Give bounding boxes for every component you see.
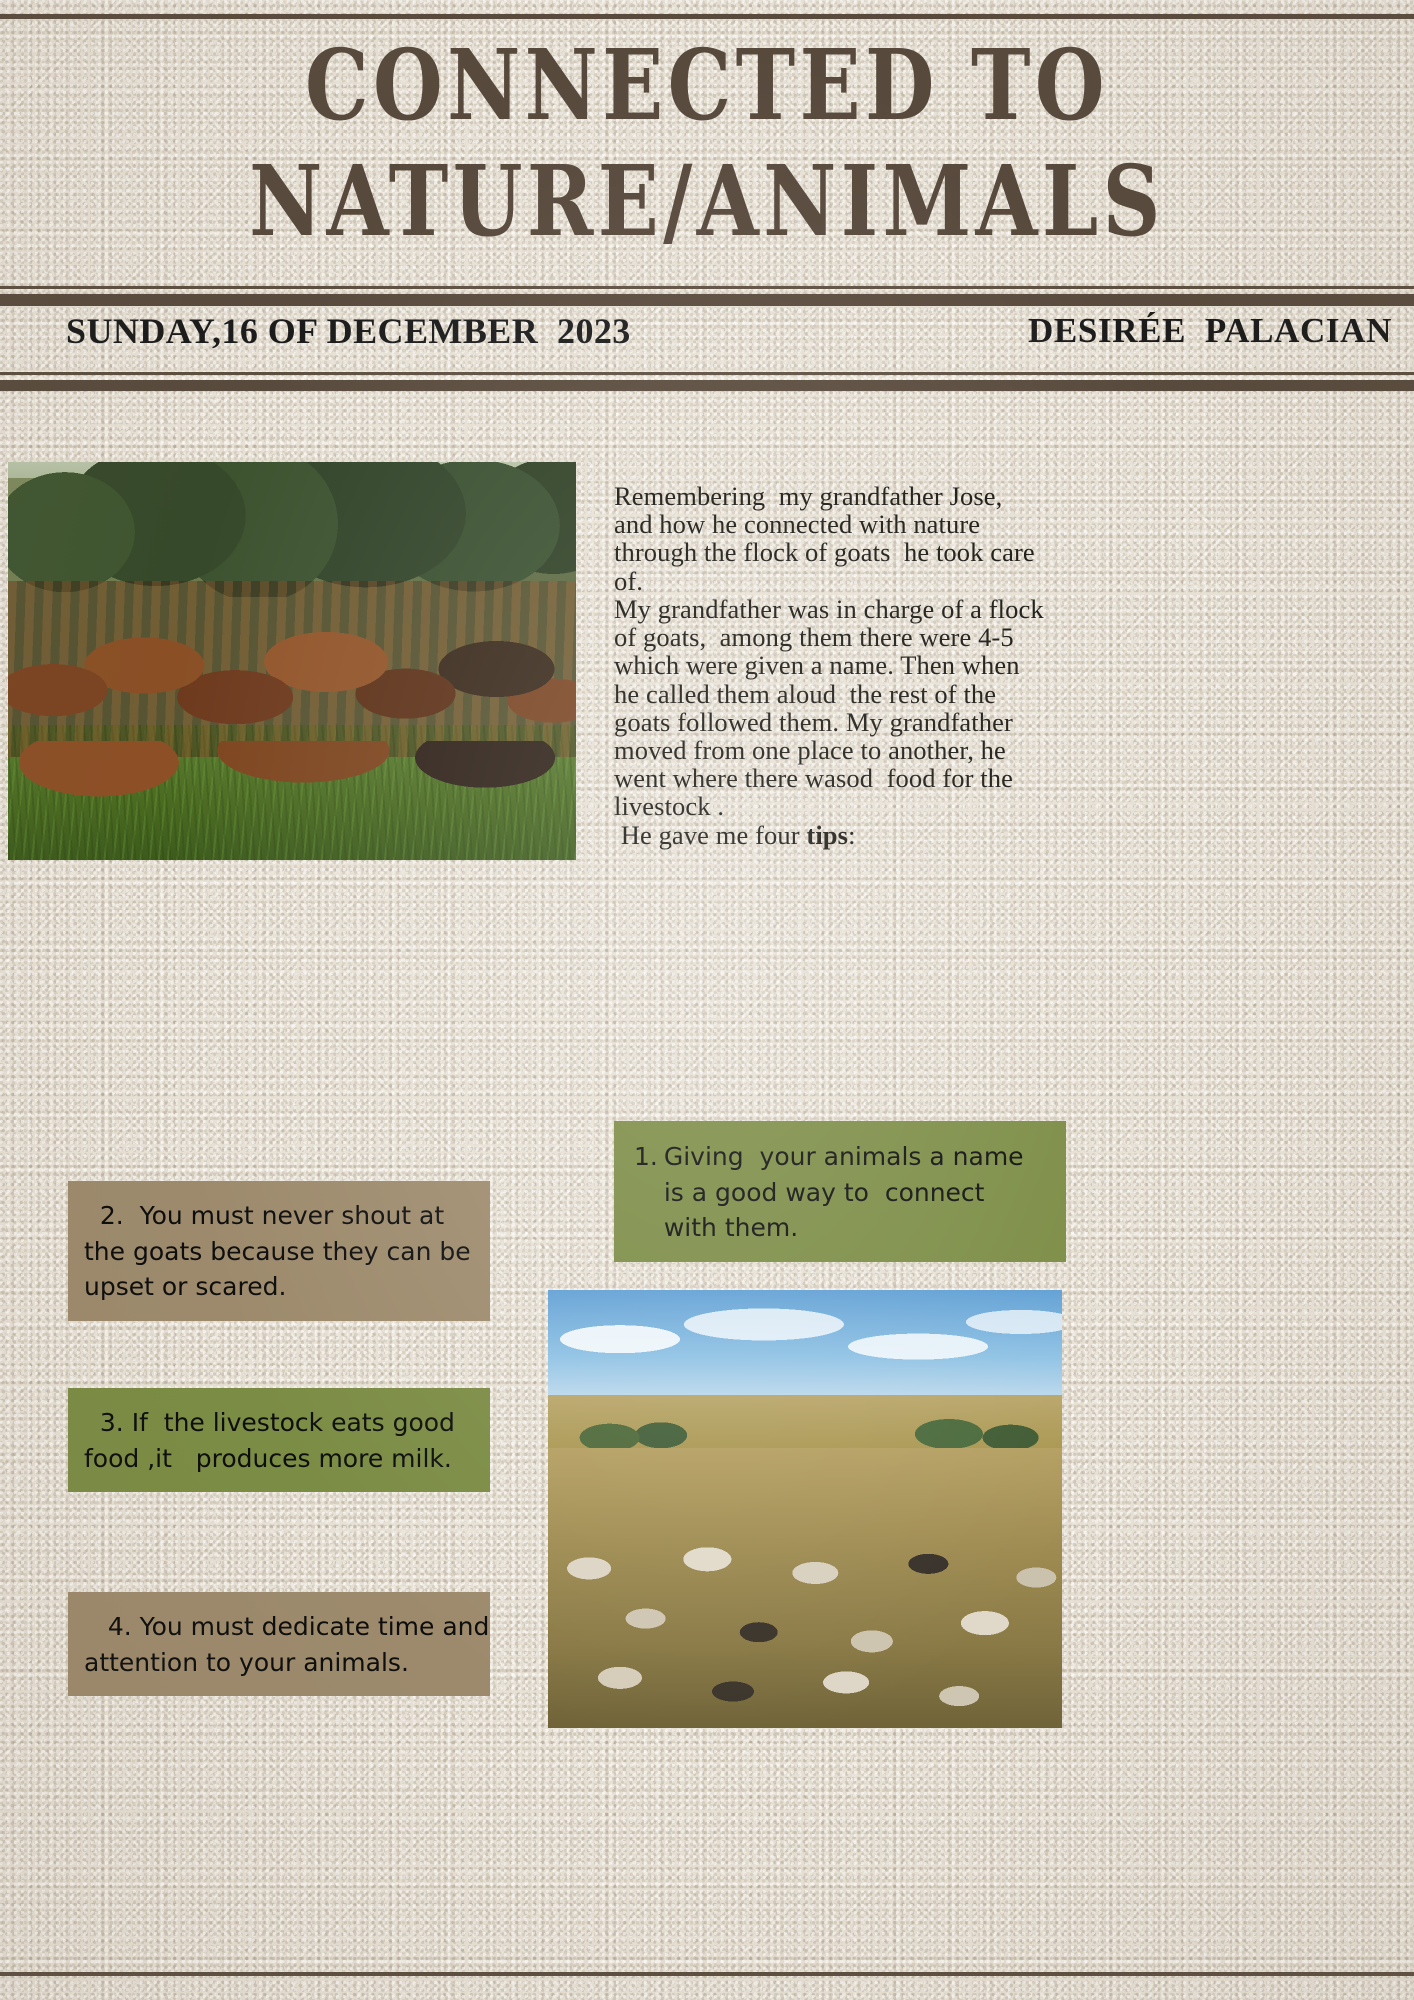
byline-rule-thin-top — [0, 286, 1414, 289]
tip-2-line-1: 2. You must never shout at — [84, 1198, 476, 1234]
tip-box-3: 3. If the livestock eats good food ,it p… — [68, 1388, 490, 1492]
bottom-rule — [0, 1972, 1414, 1976]
sheep-photo-flock — [548, 1500, 1062, 1728]
byline: SUNDAY,16 OF DECEMBER 2023 DESIRÉE PALAC… — [0, 310, 1414, 370]
tip-4-line-2: attention to your animals. — [84, 1645, 476, 1681]
tip-1-line-3: with them. — [664, 1210, 1050, 1246]
tip-box-4: 4. You must dedicate time and attention … — [68, 1592, 490, 1696]
poster-page: CONNECTED TO NATURE/ANIMALS SUNDAY,16 OF… — [0, 0, 1414, 2000]
tip-box-2: 2. You must never shout at the goats bec… — [68, 1181, 490, 1321]
tip-1-line-1: Giving your animals a name — [664, 1139, 1050, 1175]
article-paragraph-1: Remembering my grandfather Jose, and how… — [614, 482, 1066, 595]
tips-bold-word: tips — [806, 820, 848, 850]
sheep-flock-photo — [548, 1290, 1062, 1728]
tip-2-line-2: the goats because they can be — [84, 1234, 476, 1270]
article-body: Remembering my grandfather Jose, and how… — [614, 482, 1066, 849]
tip-3-line-2: food ,it produces more milk. — [84, 1441, 476, 1477]
byline-rule-thick-top — [0, 294, 1414, 306]
tip-box-1: 1. Giving your animals a name is a good … — [614, 1121, 1066, 1262]
masthead: CONNECTED TO NATURE/ANIMALS — [0, 36, 1414, 233]
tip-3-line-1: 3. If the livestock eats good — [84, 1405, 476, 1441]
byline-rule-thick-bottom — [0, 380, 1414, 391]
masthead-line-1: CONNECTED TO — [0, 36, 1414, 136]
article-paragraph-2: My grandfather was in charge of a flock … — [614, 595, 1066, 821]
goat-photo-foreground-goats — [8, 741, 576, 860]
author-name: DESIRÉE PALACIAN — [1028, 311, 1392, 351]
publication-date: SUNDAY,16 OF DECEMBER 2023 — [66, 310, 631, 352]
tip-2-line-3: upset or scared. — [84, 1269, 476, 1305]
tip-4-line-1: 4. You must dedicate time and — [84, 1609, 476, 1645]
tips-lead-prefix: He gave me four — [614, 820, 806, 850]
goat-herd-photo — [8, 462, 576, 860]
goat-photo-treeline — [8, 462, 576, 597]
byline-rule-thin-bottom — [0, 372, 1414, 375]
tip-1-line-2: is a good way to connect — [664, 1175, 1050, 1211]
masthead-line-2: NATURE/ANIMALS — [0, 152, 1414, 252]
article-tips-lead-in: He gave me four tips: — [614, 821, 1066, 849]
top-rule — [0, 14, 1414, 19]
tip-1-row: 1. Giving your animals a name is a good … — [634, 1139, 1050, 1246]
tip-1-number: 1. — [634, 1139, 658, 1246]
goat-photo-herd — [8, 581, 576, 756]
tip-1-text: Giving your animals a name is a good way… — [664, 1139, 1050, 1246]
tips-lead-suffix: : — [848, 820, 855, 850]
